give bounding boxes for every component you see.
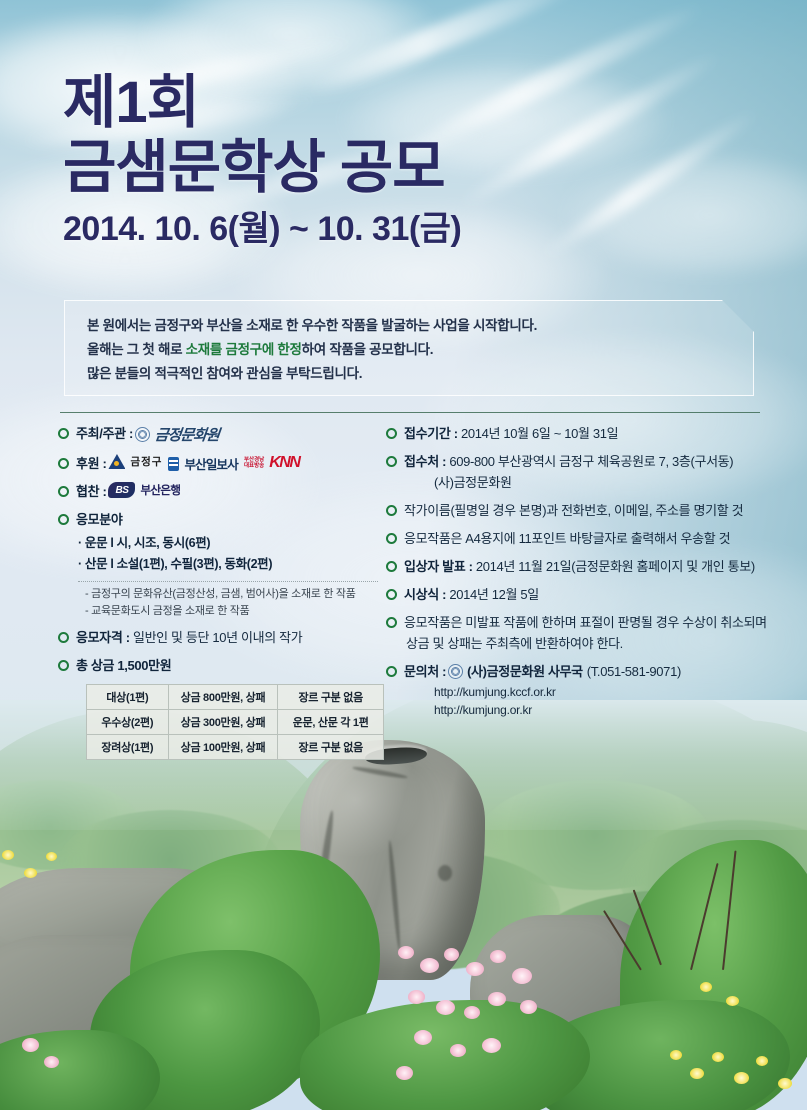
bullet-circle-icon — [386, 666, 397, 677]
bullet-circle-icon — [386, 428, 397, 439]
bullet-circle-icon — [386, 617, 397, 628]
table-row: 대상(1편) 상금 800만원, 상패 장르 구분 없음 — [87, 685, 384, 710]
announcement-row: 입상자 발표 : 2014년 11월 21일(금정문화원 홈페이지 및 개인 통… — [386, 557, 786, 576]
address-text: 접수처 : 609-800 부산광역시 금정구 체육공원로 7, 3층(구서동) — [404, 452, 733, 471]
total-prize-row: 총 상금 1,500만원 — [58, 656, 398, 675]
azalea-blossom — [520, 1000, 537, 1014]
azalea-blossom — [414, 1030, 432, 1045]
contact-row: 문의처 : (사)금정문화원 사무국 (T.051-581-9071) — [386, 662, 786, 681]
azalea-blossom — [396, 1066, 413, 1080]
rule-line-2: 상금 및 상패는 주최측에 반환하여야 한다. — [406, 634, 786, 653]
ceremony-value: 2014년 12월 5일 — [449, 587, 539, 602]
title-line-2: 금샘문학상 공모 — [63, 134, 461, 202]
requirement-1-row: 작가이름(필명일 경우 본명)과 전화번호, 이메일, 주소를 명기할 것 — [386, 501, 786, 520]
announcement-label: 입상자 발표 : — [404, 559, 476, 574]
ceremony-row: 시상식 : 2014년 12월 5일 — [386, 585, 786, 604]
azalea-blossom — [398, 946, 414, 959]
yellow-flower — [734, 1072, 749, 1084]
azalea-blossom — [482, 1038, 501, 1053]
yellow-flower — [24, 868, 37, 878]
yellow-flower — [726, 996, 739, 1006]
intro-line-1: 본 원에서는 금정구와 부산을 소재로 한 우수한 작품을 발굴하는 사업을 시… — [87, 314, 733, 338]
category-item-prose: · 산문 l 소설(1편), 수필(3편), 동화(2편) — [78, 554, 398, 575]
azalea-blossom — [444, 948, 459, 961]
support-row: 후원 : 금정구 부산일보사 부산경남대표방송 KNN — [58, 454, 398, 473]
prize-grade: 장려상(1편) — [87, 735, 169, 760]
requirement-2-row: 응모작품은 A4용지에 11포인트 바탕글자로 출력해서 우송할 것 — [386, 529, 786, 548]
address-label: 접수처 : — [404, 454, 449, 469]
category-note-2: - 교육문화도시 금정을 소재로 한 작품 — [85, 603, 398, 620]
category-item-verse: · 운문 l 시, 시조, 동시(6편) — [78, 533, 398, 554]
eligibility-value: 일반인 및 등단 10년 이내의 작가 — [133, 630, 302, 645]
bullet-circle-icon — [58, 514, 69, 525]
title-line-1: 제1회 — [63, 72, 461, 134]
poster-title-block: 제1회 금샘문학상 공모 2014. 10. 6(월) ~ 10. 31(금) — [63, 72, 461, 252]
prize-table: 대상(1편) 상금 800만원, 상패 장르 구분 없음 우수상(2편) 상금 … — [86, 684, 384, 760]
rock-crack — [438, 865, 452, 881]
azalea-blossom — [488, 992, 506, 1006]
azalea-blossom — [450, 1044, 466, 1057]
azalea-blossom — [466, 962, 484, 976]
yellow-flower — [670, 1050, 682, 1060]
section-divider — [60, 412, 760, 413]
host-logo-text: 금정문화원 — [154, 424, 220, 445]
azalea-blossom — [512, 968, 532, 984]
intro-line-2-post: 하여 작품을 공모합니다. — [302, 342, 434, 357]
azalea-blossom — [44, 1056, 59, 1068]
support-logo-geumjeong: 금정구 — [108, 454, 162, 469]
rule-row: 응모작품은 미발표 작품에 한하며 표절이 판명될 경우 수상이 취소되며 — [386, 613, 786, 632]
bullet-circle-icon — [386, 561, 397, 572]
host-label: 주최/주관 : — [76, 424, 133, 443]
azalea-blossom — [420, 958, 439, 973]
bullet-circle-icon — [58, 632, 69, 643]
requirement-2-text: 응모작품은 A4용지에 11포인트 바탕글자로 출력해서 우송할 것 — [404, 529, 730, 548]
kumjung-culture-center-icon — [135, 427, 150, 442]
support-logo-geumjeong-text: 금정구 — [130, 454, 162, 469]
bullet-circle-icon — [58, 458, 69, 469]
sponsor-label: 협찬 : — [76, 482, 106, 501]
prize-amount: 상금 100만원, 상패 — [168, 735, 278, 760]
azalea-blossom — [408, 990, 425, 1004]
support-logo-busanilbo-text: 부산일보사 — [184, 454, 238, 473]
category-label: 응모분야 — [76, 510, 122, 529]
prize-amount: 상금 300만원, 상패 — [168, 710, 278, 735]
bullet-circle-icon — [58, 660, 69, 671]
yellow-flower — [2, 850, 14, 860]
poster-root: 제1회 금샘문학상 공모 2014. 10. 6(월) ~ 10. 31(금) … — [0, 0, 807, 1110]
intro-line-2: 올해는 그 첫 해로 소재를 금정구에 한정하여 작품을 공모합니다. — [87, 338, 733, 362]
bullet-circle-icon — [386, 505, 397, 516]
kumjung-culture-center-icon — [448, 664, 463, 679]
prize-grade: 우수상(2편) — [87, 710, 169, 735]
bullet-circle-icon — [58, 486, 69, 497]
host-logo: 금정문화원 — [135, 424, 219, 445]
azalea-blossom — [22, 1038, 39, 1052]
support-logo-busanilbo: 부산일보사 — [168, 454, 238, 473]
category-dotted-divider — [78, 581, 378, 582]
requirement-1-text: 작가이름(필명일 경우 본명)과 전화번호, 이메일, 주소를 명기할 것 — [404, 501, 743, 520]
rule-line-1: 응모작품은 미발표 작품에 한하며 표절이 판명될 경우 수상이 취소되며 — [404, 613, 767, 632]
announcement-text: 입상자 발표 : 2014년 11월 21일(금정문화원 홈페이지 및 개인 통… — [404, 557, 755, 576]
yellow-flower — [712, 1052, 724, 1062]
period-value: 2014년 10월 6일 ~ 10월 31일 — [461, 426, 618, 441]
prize-genre: 운문, 산문 각 1편 — [278, 710, 384, 735]
support-label: 후원 : — [76, 454, 106, 473]
table-row: 장려상(1편) 상금 100만원, 상패 장르 구분 없음 — [87, 735, 384, 760]
landscape-photograph — [0, 700, 807, 1110]
eligibility-label: 응모자격 : — [76, 630, 133, 645]
yellow-flower — [690, 1068, 704, 1079]
contact-label: 문의처 : — [404, 662, 446, 681]
eligibility-text: 응모자격 : 일반인 및 등단 10년 이내의 작가 — [76, 628, 302, 647]
contact-phone: (T.051-581-9071) — [587, 662, 681, 681]
prize-genre: 장르 구분 없음 — [278, 735, 384, 760]
prize-amount: 상금 800만원, 상패 — [168, 685, 278, 710]
intro-highlight: 소재를 금정구에 한정 — [186, 342, 302, 357]
bullet-circle-icon — [386, 533, 397, 544]
knn-tagline: 부산경남대표방송 — [244, 457, 264, 469]
intro-line-3: 많은 분들의 적극적인 참여와 관심을 부탁드립니다. — [87, 362, 733, 386]
yellow-flower — [46, 852, 57, 861]
sponsor-logo-busanbank: BS 부산은행 — [108, 482, 180, 498]
bullet-circle-icon — [386, 456, 397, 467]
period-label: 접수기간 : — [404, 426, 461, 441]
yellow-flower — [700, 982, 712, 992]
address-row: 접수처 : 609-800 부산광역시 금정구 체육공원로 7, 3층(구서동) — [386, 452, 786, 471]
eligibility-row: 응모자격 : 일반인 및 등단 10년 이내의 작가 — [58, 628, 398, 647]
table-row: 우수상(2편) 상금 300만원, 상패 운문, 산문 각 1편 — [87, 710, 384, 735]
period-row: 접수기간 : 2014년 10월 6일 ~ 10월 31일 — [386, 424, 786, 443]
period-text: 접수기간 : 2014년 10월 6일 ~ 10월 31일 — [404, 424, 618, 443]
right-detail-column: 접수기간 : 2014년 10월 6일 ~ 10월 31일 접수처 : 609-… — [386, 424, 786, 719]
category-row: 응모분야 — [58, 510, 398, 529]
sponsor-logo-text: 부산은행 — [140, 482, 180, 498]
address-line-2: (사)금정문화원 — [434, 473, 786, 492]
contact-url-2[interactable]: http://kumjung.or.kr — [434, 701, 786, 719]
azalea-blossom — [464, 1006, 480, 1019]
category-note-1: - 금정구의 문화유산(금정산성, 금샘, 범어사)을 소재로 한 작품 — [85, 586, 398, 603]
azalea-blossom — [436, 1000, 455, 1015]
geumjeong-gu-icon — [108, 454, 125, 469]
busan-ilbo-icon — [168, 457, 179, 471]
title-dates: 2014. 10. 6(월) ~ 10. 31(금) — [63, 206, 461, 252]
ceremony-text: 시상식 : 2014년 12월 5일 — [404, 585, 539, 604]
yellow-flower — [778, 1078, 792, 1089]
left-detail-column: 주최/주관 : 금정문화원 후원 : 금정구 부산일보사 — [58, 424, 398, 760]
yellow-flower — [756, 1056, 768, 1066]
support-logo-knn: 부산경남대표방송 KNN — [244, 454, 299, 472]
host-row: 주최/주관 : 금정문화원 — [58, 424, 398, 445]
prize-genre: 장르 구분 없음 — [278, 685, 384, 710]
contact-url-1[interactable]: http://kumjung.kccf.or.kr — [434, 683, 786, 701]
contact-office: (사)금정문화원 사무국 — [467, 662, 583, 681]
intro-box: 본 원에서는 금정구와 부산을 소재로 한 우수한 작품을 발굴하는 사업을 시… — [64, 300, 754, 396]
sponsor-row: 협찬 : BS 부산은행 — [58, 482, 398, 501]
bullet-circle-icon — [58, 428, 69, 439]
intro-line-2-pre: 올해는 그 첫 해로 — [87, 342, 186, 357]
azalea-blossom — [490, 950, 506, 963]
knn-icon: KNN — [269, 454, 299, 472]
contact-urls: http://kumjung.kccf.or.kr http://kumjung… — [434, 683, 786, 719]
total-prize-label: 총 상금 1,500만원 — [76, 656, 171, 675]
prize-grade: 대상(1편) — [87, 685, 169, 710]
ceremony-label: 시상식 : — [404, 587, 449, 602]
announcement-value: 2014년 11월 21일(금정문화원 홈페이지 및 개인 통보) — [476, 559, 755, 574]
address-line-1: 609-800 부산광역시 금정구 체육공원로 7, 3층(구서동) — [449, 454, 733, 469]
bs-badge-icon: BS — [108, 482, 135, 498]
bullet-circle-icon — [386, 589, 397, 600]
